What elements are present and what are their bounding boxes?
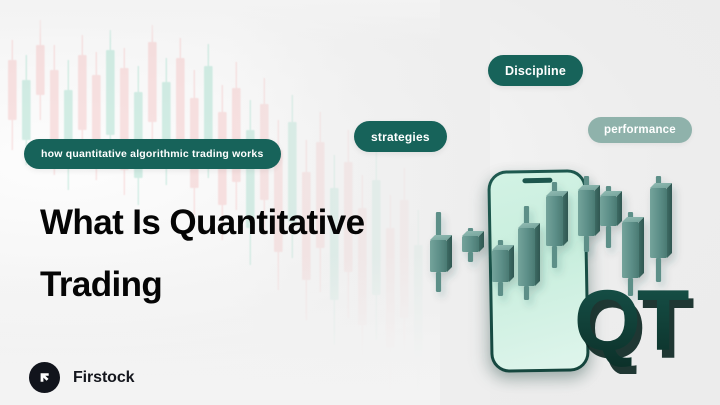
tag-performance[interactable]: performance xyxy=(588,117,692,143)
qt-monogram-text: QT xyxy=(574,282,689,369)
page-title-line-2: Trading xyxy=(40,254,440,316)
tag-discipline[interactable]: Discipline xyxy=(488,55,583,86)
tag-label: Discipline xyxy=(505,64,566,78)
flag-arrow-icon xyxy=(29,362,60,393)
tag-label: strategies xyxy=(371,130,430,144)
brand-logo[interactable]: Firstock xyxy=(29,362,134,393)
qt-monogram: QT QT xyxy=(574,282,694,374)
tag-strategies[interactable]: strategies xyxy=(354,121,447,152)
hero-banner: QT QT how quantitative algorithmic tradi… xyxy=(0,0,720,405)
tag-label: performance xyxy=(604,124,676,136)
tag-how-quantitative-algorithmic-trading-works[interactable]: how quantitative algorithmic trading wor… xyxy=(24,139,281,169)
page-title-line-1: What Is Quantitative xyxy=(40,203,364,242)
tag-label: how quantitative algorithmic trading wor… xyxy=(41,148,264,160)
brand-name: Firstock xyxy=(73,369,134,387)
page-title: What Is Quantitative Trading xyxy=(40,192,440,316)
